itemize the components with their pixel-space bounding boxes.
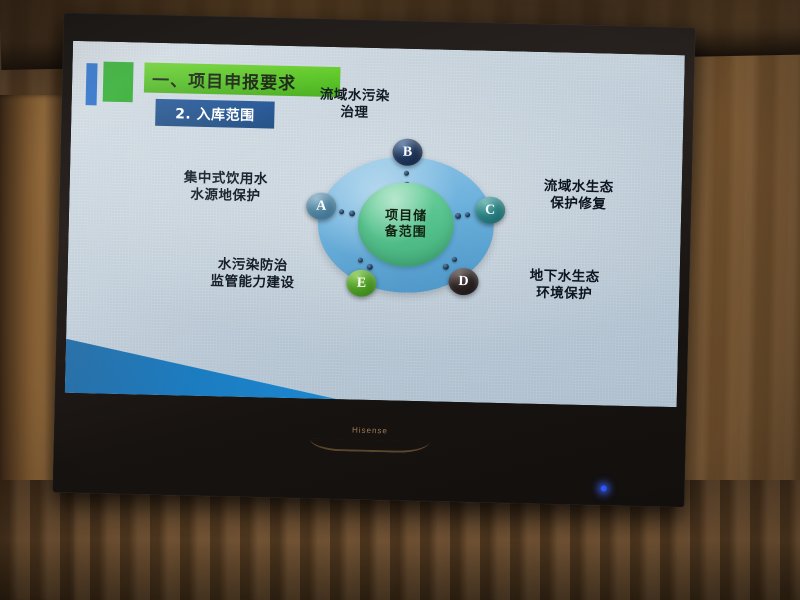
connector-dot [339,209,344,214]
center-label-line-1: 项目储 [385,208,427,225]
title-decoration-blue-bar [86,63,98,105]
photo-scene: 一、项目申报要求 2. 入库范围 流域水污染 治理 集中式饮用水 水源地保护 流… [0,0,800,600]
connector-dot [465,212,470,217]
slide-corner-triangle [65,339,338,399]
diagram-badge-c: C [475,196,506,224]
node-label-a: 集中式饮用水 水源地保护 [165,169,286,206]
television-unit: 一、项目申报要求 2. 入库范围 流域水污染 治理 集中式饮用水 水源地保护 流… [52,13,695,508]
slide-subtitle-box: 2. 入库范围 [155,99,275,129]
diagram-badge-e: E [346,269,377,297]
title-decoration-green-square [103,62,134,103]
circular-diagram: 项目储 备范围 A B C D E [304,136,508,311]
node-label-d: 地下水生态 环境保护 [499,267,630,304]
tv-brand-logo: Hisense [352,426,388,436]
slide-subtitle: 2. 入库范围 [175,103,255,125]
node-label-b: 流域水污染 治理 [294,86,415,123]
power-led-indicator [601,485,607,491]
tv-screen: 一、项目申报要求 2. 入库范围 流域水污染 治理 集中式饮用水 水源地保护 流… [65,41,685,407]
node-label-e: 水污染防治 监管能力建设 [187,256,318,293]
slide-title: 一、项目申报要求 [152,65,297,93]
center-label-line-2: 备范围 [384,224,426,241]
presentation-slide: 一、项目申报要求 2. 入库范围 流域水污染 治理 集中式饮用水 水源地保护 流… [65,41,685,407]
diagram-badge-d: D [448,268,479,296]
connector-dot [452,257,457,262]
node-label-c: 流域水生态 保护修复 [513,177,644,214]
